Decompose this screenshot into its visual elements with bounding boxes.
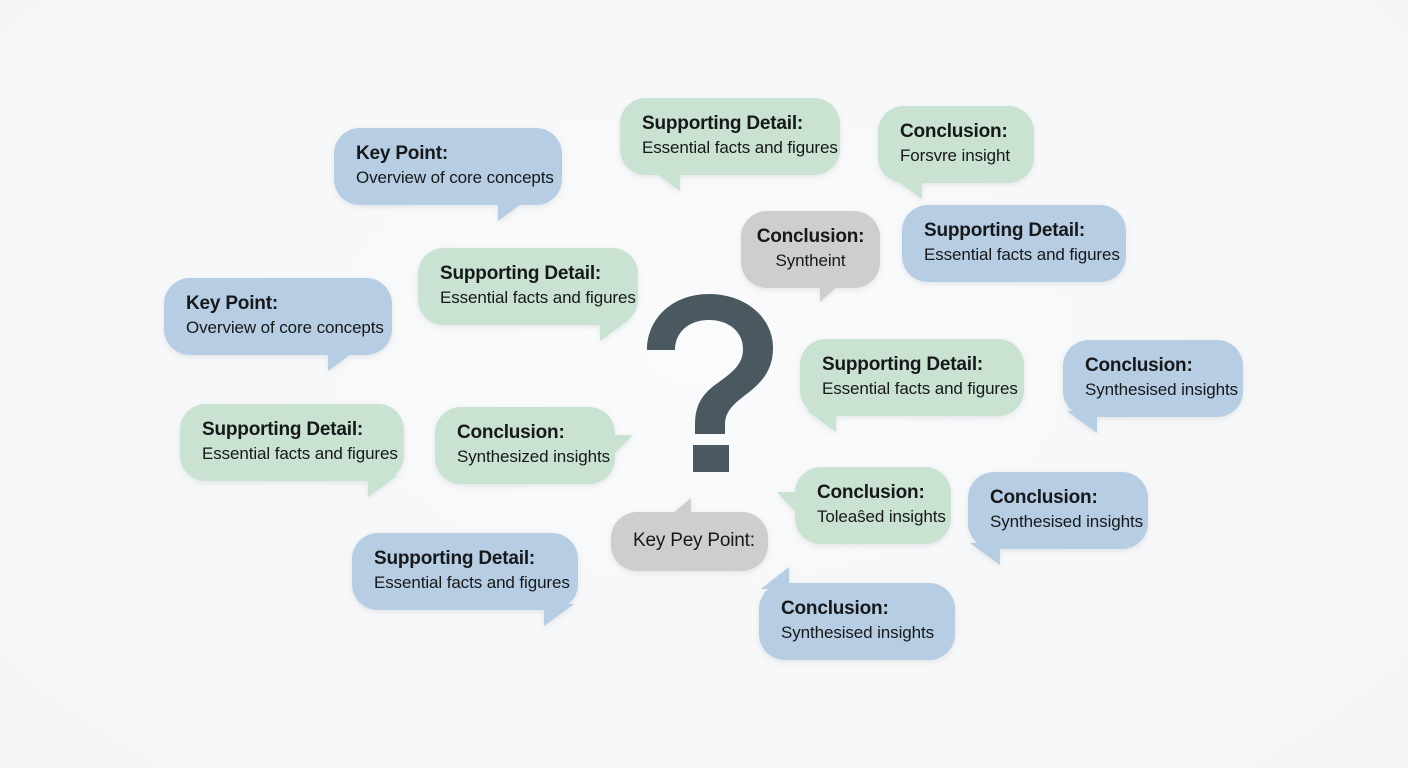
bubble-supporting-detail-upper-right[interactable]: Supporting Detail: Essential facts and f… — [902, 205, 1126, 282]
bubble-subtitle: Essential facts and figures — [202, 443, 382, 465]
bubble-title: Conclusion: — [1085, 354, 1221, 378]
bubble-title: Conclusion: — [781, 597, 933, 621]
bubble-title: Conclusion: — [990, 486, 1126, 510]
bubble-subtitle: Synthesised insights — [781, 622, 933, 644]
bubble-title: Supporting Detail: — [440, 262, 616, 286]
bubble-supporting-detail-top[interactable]: Supporting Detail: Essential facts and f… — [620, 98, 840, 175]
bubble-title: Supporting Detail: — [642, 112, 818, 136]
bubble-subtitle: Overview of core concepts — [356, 167, 540, 189]
bubble-subtitle: Synthesized insights — [457, 446, 593, 468]
bubble-tail-icon — [820, 282, 842, 302]
bubble-canvas: Key Point: Overview of core concepts Sup… — [0, 0, 1408, 768]
bubble-conclusion-toleased[interactable]: Conclusion: Toleaŝed insights — [795, 467, 951, 544]
bubble-tail-icon — [970, 543, 1000, 565]
bubble-title: Key Point: — [186, 292, 370, 316]
bubble-tail-icon — [806, 410, 836, 432]
bubble-tail-icon — [761, 567, 789, 589]
bubble-title: Conclusion: — [817, 481, 929, 505]
bubble-title: Key Pey Point: — [633, 529, 746, 553]
bubble-tail-icon — [1067, 411, 1097, 433]
bubble-tail-icon — [600, 319, 630, 341]
bubble-supporting-detail-bottom-left[interactable]: Supporting Detail: Essential facts and f… — [352, 533, 578, 610]
bubble-supporting-detail-lower-left[interactable]: Supporting Detail: Essential facts and f… — [180, 404, 404, 481]
bubble-conclusion-synthesised-right[interactable]: Conclusion: Synthesised insights — [1063, 340, 1243, 417]
bubble-tail-icon — [544, 604, 574, 626]
bubble-title: Supporting Detail: — [374, 547, 556, 571]
bubble-subtitle: Essential facts and figures — [924, 244, 1104, 266]
bubble-conclusion-syntheint[interactable]: Conclusion: Syntheint — [741, 211, 880, 288]
bubble-subtitle: Toleaŝed insights — [817, 506, 929, 528]
bubble-title: Supporting Detail: — [822, 353, 1002, 377]
bubble-conclusion-forsvre[interactable]: Conclusion: Forsvre insight — [878, 106, 1034, 183]
bubble-subtitle: Synthesised insights — [1085, 379, 1221, 401]
bubble-supporting-detail-mid-left[interactable]: Supporting Detail: Essential facts and f… — [418, 248, 638, 325]
bubble-tail-icon — [328, 349, 358, 371]
bubble-subtitle: Essential facts and figures — [440, 287, 616, 309]
bubble-conclusion-bottom[interactable]: Conclusion: Synthesised insights — [759, 583, 955, 660]
bubble-conclusion-synthesized-left[interactable]: Conclusion: Synthesized insights — [435, 407, 615, 484]
bubble-tail-icon — [667, 498, 691, 518]
bubble-tail-icon — [609, 435, 633, 459]
bubble-subtitle: Synthesised insights — [990, 511, 1126, 533]
bubble-tail-icon — [777, 492, 801, 518]
bubble-subtitle: Essential facts and figures — [642, 137, 818, 159]
bubble-title: Supporting Detail: — [202, 418, 382, 442]
bubble-subtitle: Essential facts and figures — [822, 378, 1002, 400]
bubble-tail-icon — [368, 475, 398, 497]
bubble-key-pey-point[interactable]: Key Pey Point: — [611, 512, 768, 571]
bubble-subtitle: Essential facts and figures — [374, 572, 556, 594]
bubble-tail-icon — [892, 177, 922, 199]
bubble-tail-icon — [498, 199, 528, 221]
bubble-conclusion-synthesised-far-right[interactable]: Conclusion: Synthesised insights — [968, 472, 1148, 549]
question-mark-icon — [645, 292, 775, 472]
bubble-title: Supporting Detail: — [924, 219, 1104, 243]
bubble-subtitle: Forsvre insight — [900, 145, 1012, 167]
bubble-subtitle: Overview of core concepts — [186, 317, 370, 339]
bubble-supporting-detail-right[interactable]: Supporting Detail: Essential facts and f… — [800, 339, 1024, 416]
bubble-title: Conclusion: — [457, 421, 593, 445]
bubble-tail-icon — [650, 169, 680, 191]
bubble-subtitle: Syntheint — [753, 250, 868, 272]
bubble-key-point-top[interactable]: Key Point: Overview of core concepts — [334, 128, 562, 205]
bubble-title: Conclusion: — [753, 225, 868, 249]
bubble-title: Conclusion: — [900, 120, 1012, 144]
bubble-title: Key Point: — [356, 142, 540, 166]
bubble-key-point-left[interactable]: Key Point: Overview of core concepts — [164, 278, 392, 355]
